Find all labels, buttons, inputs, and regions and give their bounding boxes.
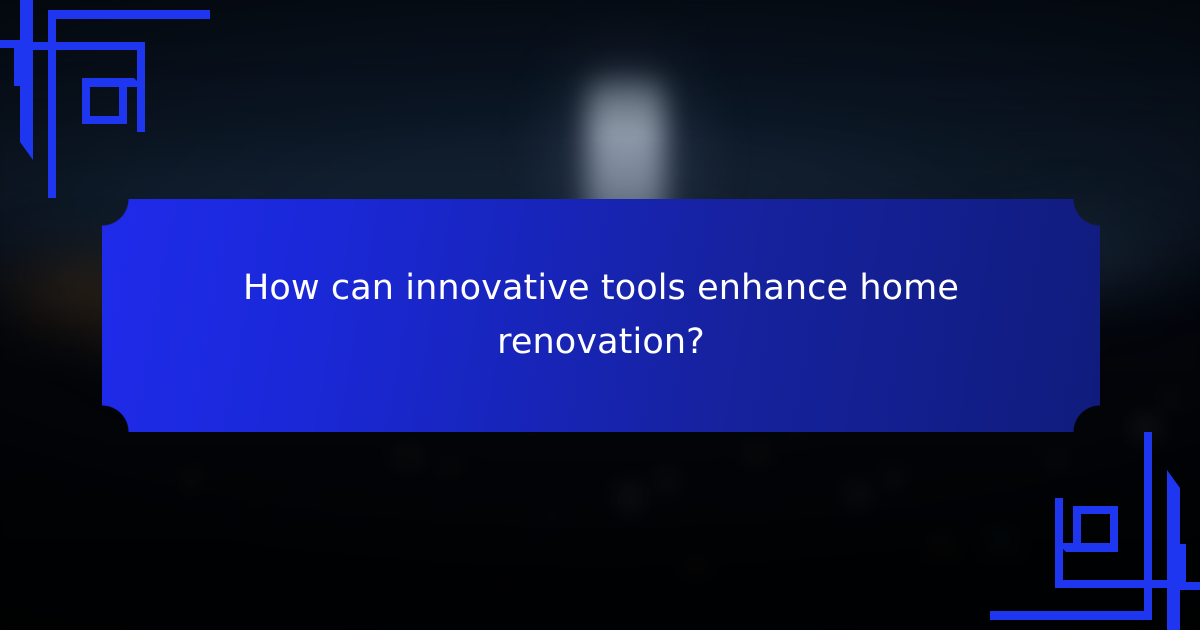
question-card-stage: How can innovative tools enhance home re… <box>0 0 1200 630</box>
headline-banner: How can innovative tools enhance home re… <box>102 199 1100 432</box>
headline-text: How can innovative tools enhance home re… <box>221 262 981 369</box>
